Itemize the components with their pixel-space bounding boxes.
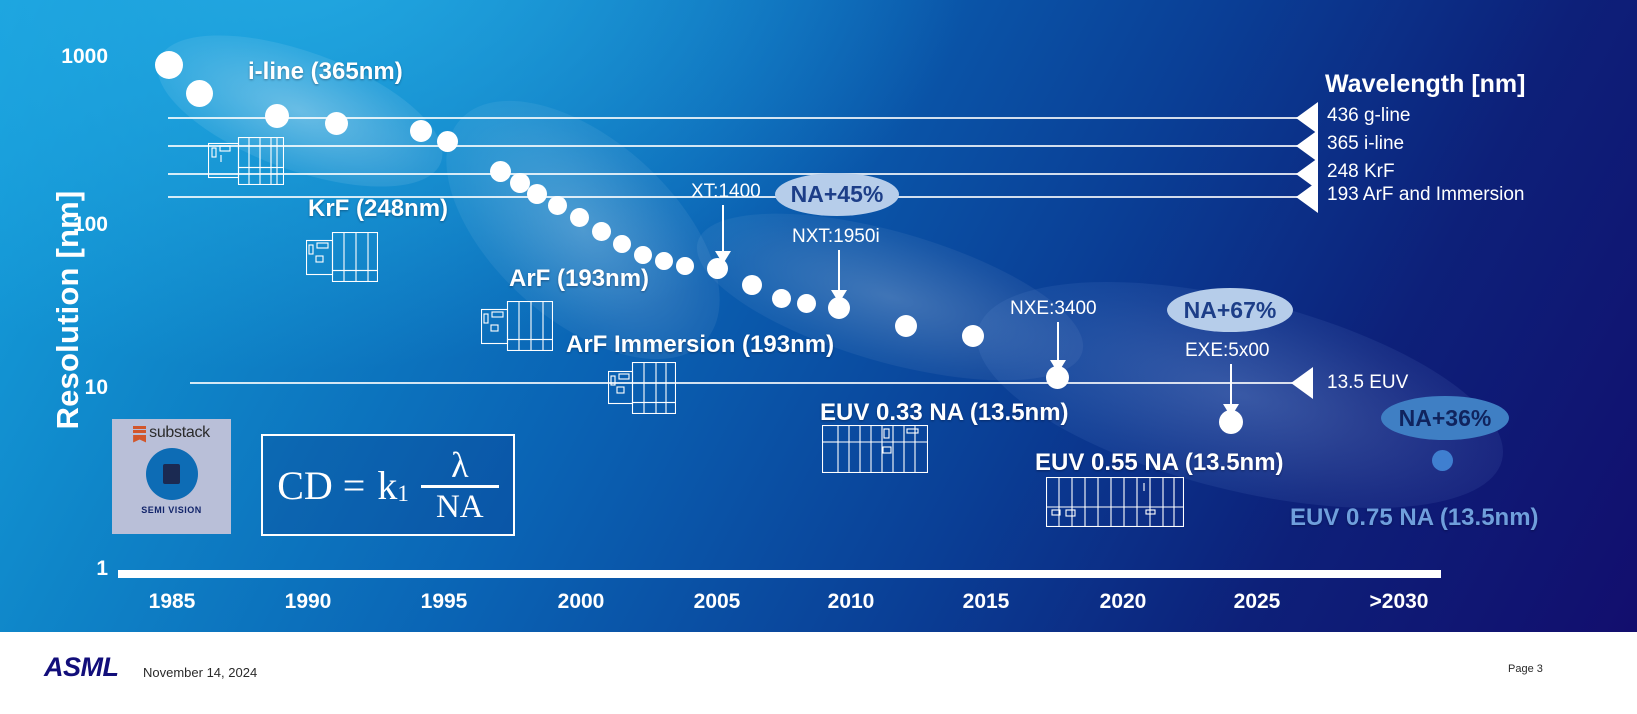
tech-label-arf: ArF (193nm) <box>509 265 649 293</box>
callout-arrowhead-xt-1400 <box>715 251 731 264</box>
x-tick-2005: 2005 <box>662 590 772 614</box>
data-point <box>325 112 348 135</box>
formula-k1-subscript: 1 <box>397 481 409 507</box>
wavelength-line-365 <box>168 145 1303 147</box>
machine-schematic-euv-033 <box>822 425 928 478</box>
data-point <box>797 294 816 313</box>
tech-label-krf: KrF (248nm) <box>308 195 448 223</box>
formula-numerator: λ <box>451 447 468 485</box>
data-point <box>186 80 213 107</box>
tech-label-i-line: i-line (365nm) <box>248 58 403 86</box>
wavelength-legend-title: Wavelength [nm] <box>1325 70 1525 99</box>
callout-xt-1400: XT:1400 <box>691 181 761 203</box>
data-point <box>1432 450 1453 471</box>
callout-arrow-exe-5x00 <box>1230 364 1232 406</box>
data-point <box>634 246 652 264</box>
data-point <box>676 257 694 275</box>
wavelength-line-248 <box>168 173 1303 175</box>
machine-schematic-i-line <box>208 137 284 190</box>
x-tick-1990: 1990 <box>253 590 363 614</box>
x-tick-2010: 2010 <box>796 590 906 614</box>
callout-nxe-3400: NXE:3400 <box>1010 298 1097 320</box>
callout-arrow-nxt-1950i <box>838 250 840 292</box>
data-point <box>265 104 289 128</box>
resolution-formula-box: CD = k 1 λ NA <box>261 434 515 536</box>
formula-lhs: CD = <box>277 462 365 509</box>
callout-arrowhead-nxe-3400 <box>1050 360 1066 373</box>
na-badge-67: NA+67% <box>1167 288 1293 332</box>
x-tick-1995: 1995 <box>389 590 499 614</box>
data-point <box>895 315 917 337</box>
x-tick-2030: >2030 <box>1344 590 1454 614</box>
data-point <box>490 161 511 182</box>
footer-date: November 14, 2024 <box>143 665 257 680</box>
data-point <box>962 325 984 347</box>
y-tick-1: 1 <box>28 557 108 581</box>
data-point <box>527 184 547 204</box>
semi-vision-label: SEMI VISION <box>141 505 202 515</box>
x-axis-line <box>118 570 1441 578</box>
callout-arrowhead-nxt-1950i <box>831 290 847 303</box>
wavelength-label-365: 365 i-line <box>1327 133 1404 155</box>
substack-brand-label: substack <box>149 424 210 442</box>
data-point <box>592 222 611 241</box>
callout-arrow-nxe-3400 <box>1057 322 1059 362</box>
formula-denominator: NA <box>436 488 484 524</box>
data-point <box>742 275 762 295</box>
wavelength-label-436: 436 g-line <box>1327 105 1410 127</box>
wavelength-arrow-193 <box>1296 181 1318 213</box>
tech-label-arf-immersion: ArF Immersion (193nm) <box>566 331 834 359</box>
tech-label-euv-075: EUV 0.75 NA (13.5nm) <box>1290 504 1539 532</box>
na-badge-36: NA+36% <box>1381 396 1509 440</box>
substack-watermark: substack SEMI VISION <box>112 419 231 534</box>
x-tick-2025: 2025 <box>1202 590 1312 614</box>
callout-arrowhead-exe-5x00 <box>1223 404 1239 417</box>
data-point <box>548 196 567 215</box>
data-point <box>772 289 791 308</box>
semi-vision-logo-icon <box>146 448 198 500</box>
callout-exe-5x00: EXE:5x00 <box>1185 340 1270 362</box>
machine-schematic-arf <box>481 301 553 356</box>
wavelength-line-135 <box>190 382 1295 384</box>
data-point <box>613 235 631 253</box>
y-tick-10: 10 <box>28 376 108 400</box>
wavelength-label-248: 248 KrF <box>1327 161 1395 183</box>
callout-nxt-1950i: NXT:1950i <box>792 226 880 248</box>
data-point <box>437 131 458 152</box>
tech-label-euv-055: EUV 0.55 NA (13.5nm) <box>1035 449 1284 477</box>
x-tick-2020: 2020 <box>1068 590 1178 614</box>
machine-schematic-arf-immersion <box>608 362 676 419</box>
x-tick-1985: 1985 <box>117 590 227 614</box>
data-point <box>655 252 673 270</box>
data-point <box>155 51 183 79</box>
tech-label-euv-033: EUV 0.33 NA (13.5nm) <box>820 399 1069 427</box>
machine-schematic-krf <box>306 232 378 287</box>
substack-wordmark: substack <box>133 424 210 442</box>
formula-expression: CD = k 1 λ NA <box>277 447 499 524</box>
wavelength-label-135: 13.5 EUV <box>1327 372 1408 394</box>
footer-page-number: Page 3 <box>1508 663 1543 675</box>
wavelength-arrow-135 <box>1291 367 1313 399</box>
y-tick-1000: 1000 <box>28 45 108 69</box>
x-tick-2000: 2000 <box>526 590 636 614</box>
chip-icon <box>163 464 180 484</box>
data-point <box>570 208 589 227</box>
data-point <box>410 120 432 142</box>
wavelength-label-193: 193 ArF and Immersion <box>1327 184 1524 206</box>
machine-schematic-euv-055 <box>1046 477 1184 532</box>
x-tick-2015: 2015 <box>931 590 1041 614</box>
substack-icon <box>133 426 146 441</box>
callout-arrow-xt-1400 <box>722 205 724 253</box>
y-tick-100: 100 <box>28 213 108 237</box>
na-badge-45: NA+45% <box>775 173 899 216</box>
formula-k1: k <box>377 462 397 509</box>
formula-fraction: λ NA <box>421 447 499 524</box>
slide-root: 436 g-line 365 i-line 248 KrF 193 ArF an… <box>0 0 1637 714</box>
asml-logo: ASML <box>44 652 119 683</box>
